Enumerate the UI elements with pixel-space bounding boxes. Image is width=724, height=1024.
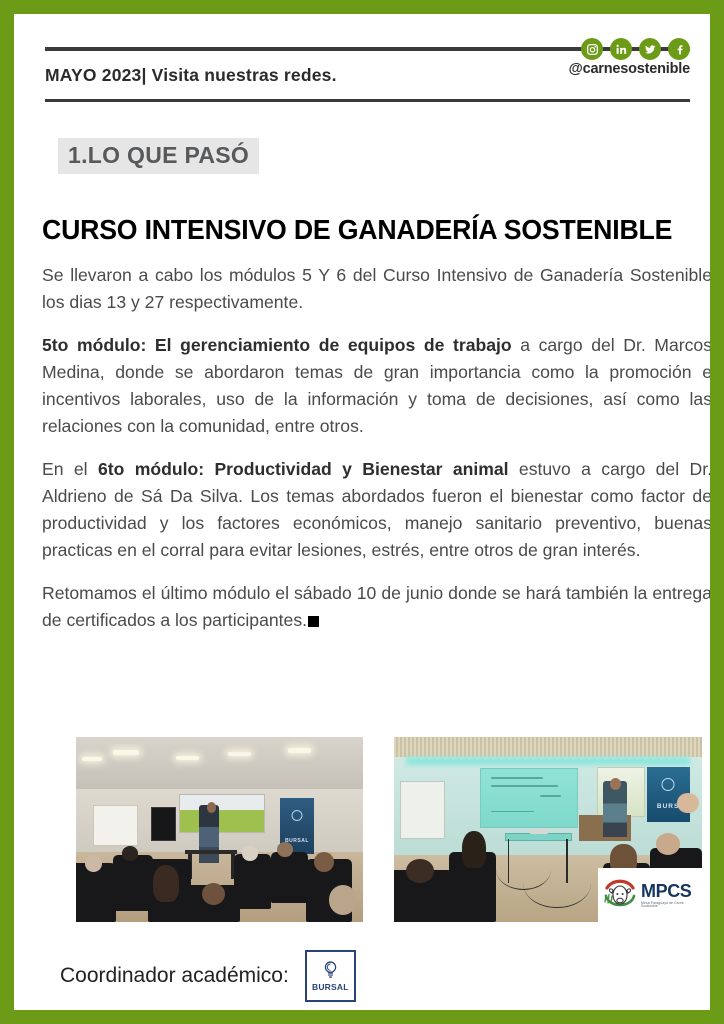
presenter-body xyxy=(603,781,626,837)
photo-ceiling xyxy=(76,737,363,794)
audience-head xyxy=(85,855,102,872)
text-run-bold: 5to módulo: El gerenciamiento de equipos… xyxy=(42,335,512,355)
ceiling-light xyxy=(82,757,102,761)
audience-seat xyxy=(76,863,116,922)
ceiling-light xyxy=(288,748,311,752)
text-run: En el xyxy=(42,459,98,479)
section-tag: 1.LO QUE PASÓ xyxy=(58,138,259,174)
bursal-name: BURSAL xyxy=(312,982,349,992)
whiteboard xyxy=(400,781,445,839)
slide-line xyxy=(491,777,544,779)
social-icons xyxy=(569,38,690,60)
article-body: Se llevaron a cabo los módulos 5 Y 6 del… xyxy=(42,262,710,651)
audience-head xyxy=(462,831,487,868)
ceiling-light xyxy=(176,756,199,760)
audience-head xyxy=(277,842,293,857)
paragraph-modulo-5: 5to módulo: El gerenciamiento de equipos… xyxy=(42,332,710,439)
page-sheet: MAYO 2023| Visita nuestras redes. xyxy=(14,14,710,1010)
presenter-head xyxy=(610,778,621,790)
header-rule-bottom xyxy=(45,99,690,102)
facebook-icon[interactable] xyxy=(668,38,690,60)
audience-head xyxy=(406,859,434,883)
coordinator-label: Coordinador académico: xyxy=(60,964,289,988)
photo-course-module-5: BURSAL xyxy=(76,737,363,922)
bulb-icon xyxy=(322,960,339,980)
projection-screen xyxy=(179,794,264,833)
audience-head xyxy=(153,865,179,902)
end-mark xyxy=(308,616,319,627)
bulb-icon xyxy=(662,778,675,791)
twitter-icon[interactable] xyxy=(639,38,661,60)
slide-line xyxy=(491,785,558,787)
projector xyxy=(530,829,548,835)
article-headline: CURSO INTENSIVO DE GANADERÍA SOSTENIBLE xyxy=(42,215,692,245)
mpcs-text: MPCS Mesa Paraguaya de Carne Sostenible xyxy=(641,882,698,909)
text-run: Se llevaron a cabo los módulos 5 Y 6 del… xyxy=(42,265,710,312)
bursal-logo: BURSAL xyxy=(305,950,356,1002)
linkedin-icon[interactable] xyxy=(610,38,632,60)
audience-seat xyxy=(271,852,308,904)
header-row: MAYO 2023| Visita nuestras redes. xyxy=(45,51,690,99)
floor-cable xyxy=(523,859,591,908)
audience-head xyxy=(677,793,699,813)
text-run: Retomamos el último módulo el sábado 10 … xyxy=(42,583,710,630)
paragraph-modulo-6: En el 6to módulo: Productividad y Bienes… xyxy=(42,456,710,563)
slide-logo-line xyxy=(540,795,561,797)
newsletter-page: MAYO 2023| Visita nuestras redes. xyxy=(0,0,724,1024)
mpcs-name: MPCS xyxy=(641,882,698,900)
social-handle: @carnesostenible xyxy=(569,61,690,77)
projected-slide xyxy=(480,768,577,827)
whiteboard xyxy=(93,805,138,846)
mpcs-subtitle: Mesa Paraguaya de Carne Sostenible xyxy=(641,902,698,909)
projector-table xyxy=(505,833,572,841)
presenter-head xyxy=(207,802,217,813)
social-block: @carnesostenible xyxy=(569,38,690,77)
audience-head xyxy=(122,846,138,861)
ceiling-light xyxy=(113,750,139,755)
paragraph-cierre: Retomamos el último módulo el sábado 10 … xyxy=(42,580,710,633)
mpcs-cow-icon xyxy=(602,875,638,915)
slide-line xyxy=(491,811,534,813)
mpcs-logo: MPCS Mesa Paraguaya de Carne Sostenible xyxy=(598,868,702,922)
ceiling-light xyxy=(228,752,251,756)
instagram-icon[interactable] xyxy=(581,38,603,60)
monitor xyxy=(151,807,176,840)
front-table xyxy=(185,850,237,855)
paragraph-intro: Se llevaron a cabo los módulos 5 Y 6 del… xyxy=(42,262,710,315)
page-header: MAYO 2023| Visita nuestras redes. xyxy=(45,47,690,102)
bulb-icon xyxy=(291,810,302,821)
cove-light xyxy=(406,757,689,764)
audience-head xyxy=(329,885,358,915)
header-title: MAYO 2023| Visita nuestras redes. xyxy=(45,65,337,86)
photo-course-module-6: BURS xyxy=(394,737,702,922)
text-run-bold: 6to módulo: Productividad y Bienestar an… xyxy=(98,459,509,479)
coordinator-row: Coordinador académico: BURSAL xyxy=(60,950,356,1002)
